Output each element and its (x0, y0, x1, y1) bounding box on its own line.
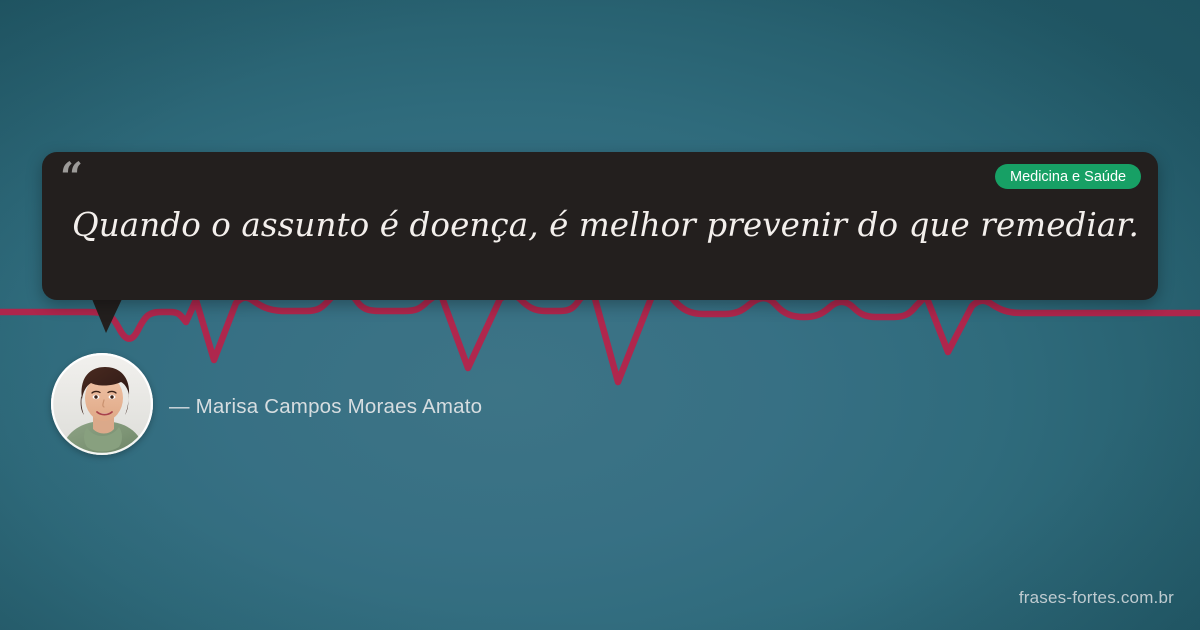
avatar (51, 353, 153, 455)
site-watermark: frases-fortes.com.br (1019, 588, 1174, 608)
category-badge[interactable]: Medicina e Saúde (995, 164, 1141, 189)
ecg-heartbeat-line-icon (0, 0, 1200, 630)
quote-text: Quando o assunto é doença, é melhor prev… (72, 203, 1112, 248)
author-name: — Marisa Campos Moraes Amato (169, 395, 482, 419)
quote-image-canvas: “ Quando o assunto é doença, é melhor pr… (0, 0, 1200, 630)
author-portrait-photo-icon (51, 353, 153, 455)
left-double-quote-icon: “ (60, 158, 83, 198)
speech-bubble-tail (92, 299, 122, 333)
